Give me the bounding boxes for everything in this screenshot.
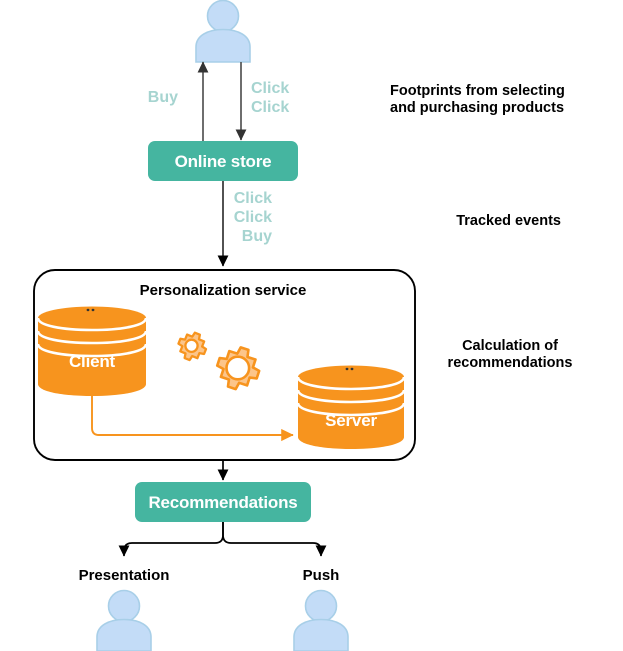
server-database-icon bbox=[298, 366, 404, 450]
personalization-service-label: Personalization service bbox=[98, 282, 348, 300]
edge-label-click-click: Click Click bbox=[251, 80, 341, 118]
push-person-icon bbox=[294, 591, 348, 651]
edge-label-buy: Buy bbox=[118, 89, 178, 108]
recommendations-label: Recommendations bbox=[135, 493, 311, 513]
edge-fork-left-arrow bbox=[124, 522, 223, 556]
annotation-tracked-events: Tracked events bbox=[370, 213, 561, 230]
presentation-person-icon bbox=[97, 591, 151, 651]
push-label: Push bbox=[271, 567, 371, 585]
annotation-calculation: Calculation of recommendations bbox=[415, 338, 605, 372]
annotation-footprints: Footprints from selecting and purchasing… bbox=[390, 83, 615, 117]
client-database-label: Client bbox=[38, 352, 146, 372]
online-store-label: Online store bbox=[148, 152, 298, 172]
server-database-label: Server bbox=[298, 411, 404, 431]
edge-label-click-click-buy: Click Click Buy bbox=[200, 190, 272, 247]
shopper-person-icon bbox=[196, 1, 250, 63]
presentation-label: Presentation bbox=[44, 567, 204, 585]
diagram-canvas: Buy Click Click Click Click Buy Online s… bbox=[0, 0, 623, 651]
edge-fork-right-arrow bbox=[223, 522, 321, 556]
